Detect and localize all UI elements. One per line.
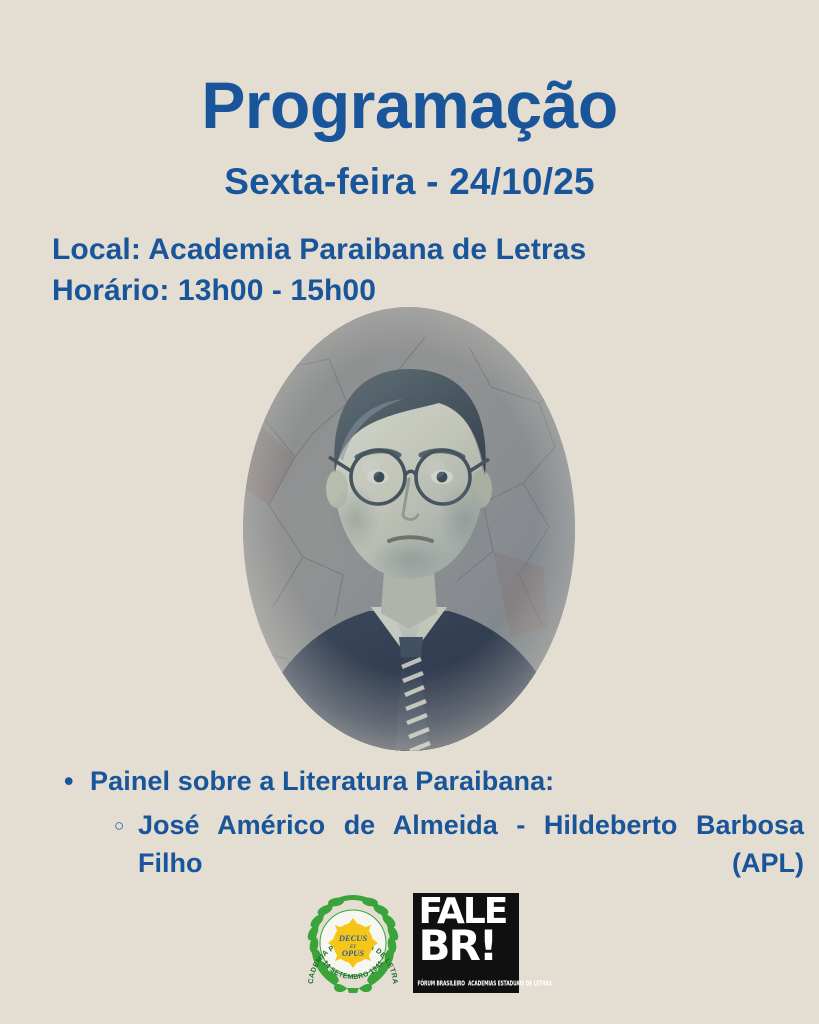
event-details: Local: Academia Paraibana de Letras Horá… [52, 229, 752, 311]
logo-row: ACADEMIA PARAIBANA DE LETRAS · 14 SETEMB… [0, 888, 819, 998]
portrait-illustration [243, 307, 575, 751]
circle-bullet-icon: ○ [114, 806, 138, 846]
event-date-subtitle: Sexta-feira - 24/10/25 [0, 163, 819, 200]
bullet-icon: • [64, 762, 90, 800]
detail-horario: Horário: 13h00 - 15h00 [52, 270, 752, 311]
detail-local: Local: Academia Paraibana de Letras [52, 229, 752, 270]
poster-root: Programação Sexta-feira - 24/10/25 Local… [0, 0, 819, 1024]
falebr-footer-right: ACADEMIAS ESTADUAIS DE LETRAS [468, 981, 552, 990]
falebr-logo: FALE BR! FÓRUM BRASILEIRO ACADEMIAS ESTA… [413, 893, 519, 993]
program-item-label: Painel sobre a Literatura Paraibana: [90, 762, 804, 800]
falebr-footer-left: FÓRUM BRASILEIRO [418, 981, 465, 990]
portrait-photo [243, 307, 575, 751]
page-title: Programação [0, 72, 819, 138]
list-item: • Painel sobre a Literatura Paraibana: [64, 762, 804, 800]
apl-motto-line1: DECUS [337, 933, 367, 943]
apl-motto-line3: OPUS [341, 948, 363, 958]
apl-seal-logo: ACADEMIA PARAIBANA DE LETRAS · 14 SETEMB… [301, 889, 405, 997]
falebr-footer: FÓRUM BRASILEIRO ACADEMIAS ESTADUAIS DE … [418, 984, 514, 990]
falebr-line2: BR! [419, 929, 514, 963]
